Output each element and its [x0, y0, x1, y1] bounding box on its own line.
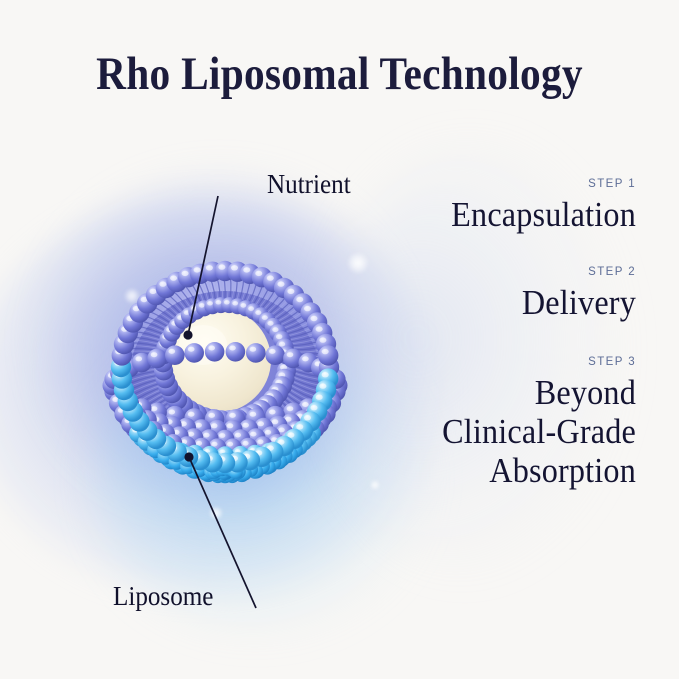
step-kicker: STEP 2: [356, 264, 636, 280]
step-title: Beyond Clinical-Grade Absorption: [378, 373, 636, 490]
step-item-3: STEP 3 Beyond Clinical-Grade Absorption: [356, 354, 636, 490]
step-title-line: Absorption: [378, 451, 636, 490]
liposome-illustration: [93, 253, 357, 497]
step-item-2: STEP 2 Delivery: [356, 264, 636, 322]
step-title: Encapsulation: [378, 195, 636, 234]
step-kicker: STEP 3: [356, 354, 636, 370]
infographic-canvas: Rho Liposomal Technology: [0, 0, 679, 679]
steps-list: STEP 1 Encapsulation STEP 2 Delivery STE…: [356, 176, 636, 490]
step-title-line: Clinical-Grade: [378, 412, 636, 451]
page-title: Rho Liposomal Technology: [41, 46, 639, 102]
step-title: Delivery: [378, 283, 636, 322]
step-title-line: Encapsulation: [378, 195, 636, 234]
step-title-line: Beyond: [378, 373, 636, 412]
step-title-line: Delivery: [378, 283, 636, 322]
step-item-1: STEP 1 Encapsulation: [356, 176, 636, 234]
label-liposome: Liposome: [113, 581, 213, 612]
label-nutrient: Nutrient: [267, 169, 351, 200]
step-kicker: STEP 1: [356, 176, 636, 192]
